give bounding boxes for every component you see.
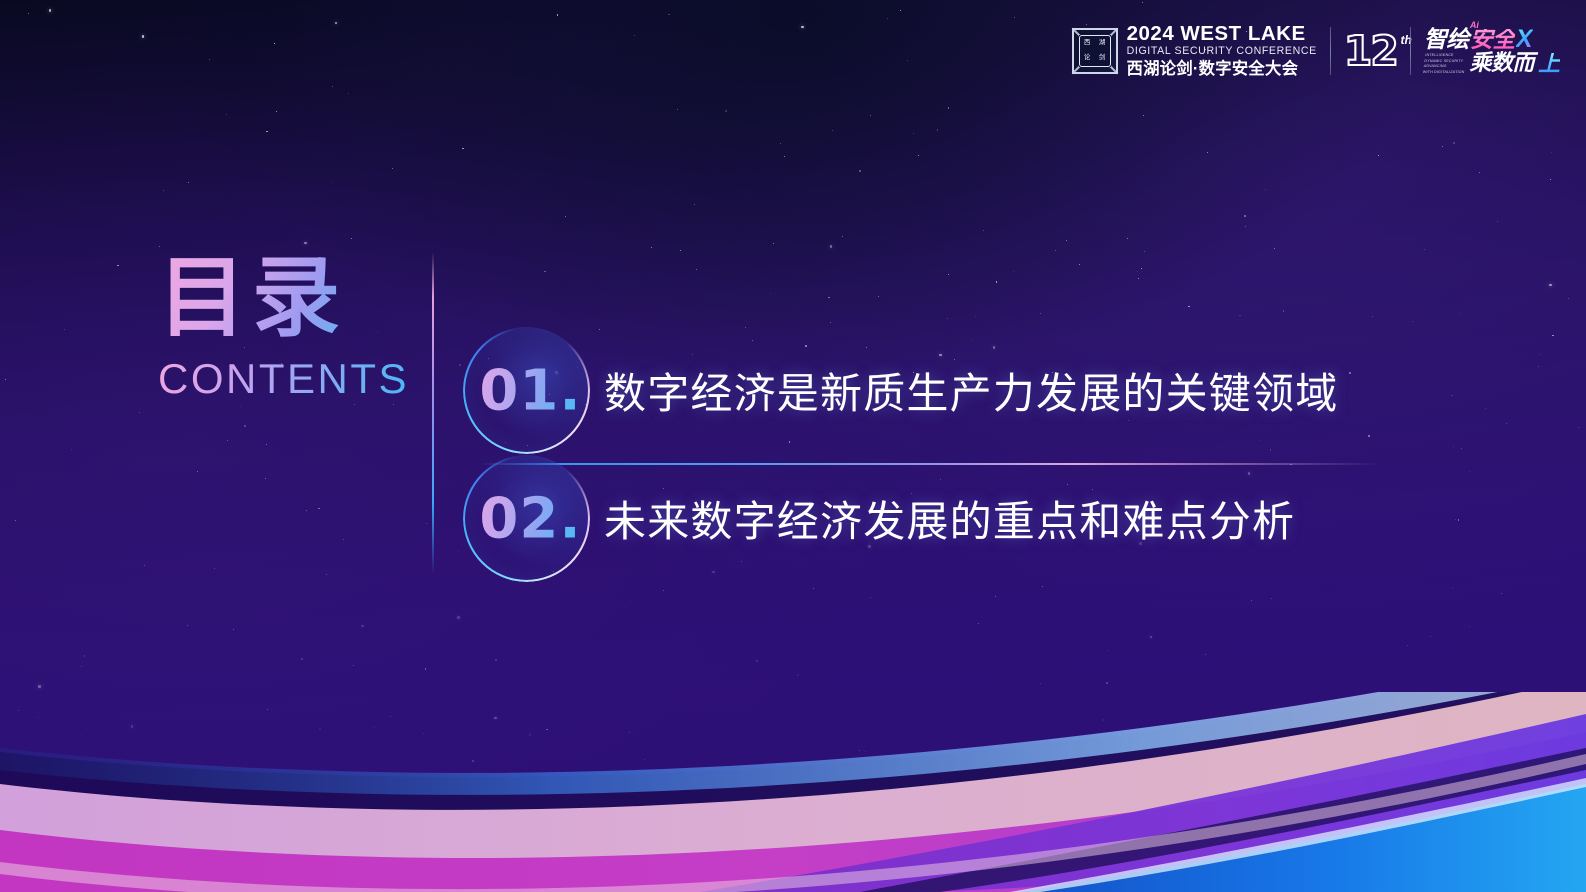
page-title: 目录 CONTENTS bbox=[158, 255, 409, 403]
star-dot bbox=[197, 471, 198, 472]
star-dot bbox=[214, 568, 215, 569]
star-dot bbox=[828, 297, 830, 299]
star-dot bbox=[830, 245, 833, 248]
star-dot bbox=[244, 425, 246, 427]
star-dot bbox=[265, 478, 266, 479]
theme-text-c: 乘数而 bbox=[1469, 53, 1534, 75]
star-dot bbox=[913, 133, 914, 134]
theme-english-text: INTELLIGENCE DYNAMIC SECURITY ADVANCING … bbox=[1422, 53, 1467, 75]
star-dot bbox=[937, 129, 939, 131]
star-dot bbox=[859, 170, 861, 172]
star-dot bbox=[361, 625, 364, 628]
star-dot bbox=[1239, 315, 1241, 317]
star-dot bbox=[38, 685, 41, 688]
ai-mark-icon: Ai bbox=[1470, 21, 1479, 30]
star-dot bbox=[770, 293, 771, 294]
star-dot bbox=[1127, 238, 1128, 239]
star-dot bbox=[348, 93, 349, 94]
star-dot bbox=[144, 565, 145, 566]
theme-x-mark: X bbox=[1516, 27, 1533, 52]
conference-name-zh: 西湖论剑·数字安全大会 bbox=[1127, 60, 1317, 80]
conference-name-en: 2024 WEST LAKE bbox=[1127, 23, 1317, 45]
star-dot bbox=[1349, 372, 1351, 374]
item-number: 02. bbox=[463, 486, 590, 551]
star-dot bbox=[462, 148, 464, 150]
logo-divider-1 bbox=[1330, 27, 1331, 75]
star-dot bbox=[1452, 588, 1453, 589]
star-dot bbox=[870, 115, 871, 116]
star-dot bbox=[266, 444, 267, 445]
star-dot bbox=[878, 296, 879, 297]
star-dot bbox=[813, 588, 814, 589]
star-dot bbox=[947, 318, 948, 319]
star-dot bbox=[797, 675, 798, 676]
item-number: 01. bbox=[463, 358, 590, 423]
star-dot bbox=[1251, 600, 1252, 601]
star-dot bbox=[392, 168, 393, 169]
star-dot bbox=[318, 508, 320, 510]
star-dot bbox=[784, 156, 785, 157]
star-dot bbox=[948, 274, 949, 275]
theme-text-a: 智绘 bbox=[1424, 29, 1469, 52]
theme-line-2: INTELLIGENCE DYNAMIC SECURITY ADVANCING … bbox=[1424, 53, 1560, 75]
star-dot bbox=[1424, 249, 1425, 250]
star-dot bbox=[725, 110, 727, 112]
star-dot bbox=[1451, 395, 1453, 397]
star-dot bbox=[663, 590, 664, 591]
star-dot bbox=[1274, 248, 1275, 249]
star-dot bbox=[426, 523, 427, 524]
star-dot bbox=[565, 216, 566, 217]
star-dot bbox=[1549, 284, 1552, 287]
star-dot bbox=[1188, 306, 1190, 308]
star-dot bbox=[71, 449, 72, 450]
star-dot bbox=[1469, 626, 1470, 627]
star-dot bbox=[1138, 278, 1139, 279]
star-dot bbox=[680, 250, 681, 251]
star-dot bbox=[1040, 683, 1041, 684]
star-dot bbox=[1013, 271, 1014, 272]
edition-number: 12 bbox=[1344, 27, 1397, 75]
star-dot bbox=[1568, 298, 1569, 299]
star-dot bbox=[117, 265, 119, 267]
star-dot bbox=[1540, 354, 1541, 355]
star-dot bbox=[830, 322, 831, 323]
theme-text-b: 安全 bbox=[1470, 29, 1515, 52]
star-dot bbox=[634, 35, 635, 36]
star-dot bbox=[1040, 313, 1041, 314]
star-dot bbox=[1207, 152, 1208, 153]
star-dot bbox=[1244, 215, 1246, 217]
star-dot bbox=[1407, 645, 1408, 646]
star-dot bbox=[335, 22, 338, 25]
star-dot bbox=[1079, 264, 1080, 265]
star-dot bbox=[1485, 408, 1486, 409]
seal-char-0: 西 bbox=[1084, 40, 1091, 47]
star-dot bbox=[276, 111, 277, 112]
bottom-wave-decoration bbox=[0, 692, 1586, 892]
star-dot bbox=[351, 238, 352, 239]
star-dot bbox=[1550, 179, 1551, 180]
star-dot bbox=[1368, 435, 1370, 437]
contents-item-02[interactable]: 02. 未来数字经济发展的重点和难点分析 bbox=[463, 455, 1295, 582]
star-dot bbox=[557, 14, 559, 16]
star-dot bbox=[996, 281, 998, 283]
star-dot bbox=[240, 406, 241, 407]
star-dot bbox=[668, 14, 670, 16]
star-dot bbox=[887, 18, 888, 19]
star-dot bbox=[1461, 448, 1462, 449]
star-dot bbox=[1271, 598, 1272, 599]
star-dot bbox=[354, 404, 355, 405]
star-dot bbox=[393, 404, 394, 405]
star-dot bbox=[142, 35, 145, 38]
conference-subtitle-en: DIGITAL SECURITY CONFERENCE bbox=[1127, 44, 1317, 58]
star-dot bbox=[918, 155, 919, 156]
item-number-circle: 02. bbox=[463, 455, 590, 582]
contents-item-01[interactable]: 01. 数字经济是新质生产力发展的关键领域 bbox=[463, 327, 1338, 454]
theme-line-1: 智绘 安全 X Ai bbox=[1424, 27, 1560, 52]
star-dot bbox=[332, 86, 333, 87]
star-dot bbox=[694, 204, 695, 205]
star-dot bbox=[696, 269, 697, 270]
star-dot bbox=[1552, 335, 1554, 337]
star-dot bbox=[1066, 240, 1067, 241]
star-dot bbox=[5, 379, 6, 380]
star-dot bbox=[1143, 115, 1145, 117]
seal-char-1: 湖 bbox=[1099, 40, 1106, 47]
star-dot bbox=[209, 59, 210, 60]
star-dot bbox=[832, 130, 833, 131]
seal-char-2: 论 bbox=[1084, 55, 1091, 62]
seal-inner-characters: 西 湖 论 剑 bbox=[1079, 35, 1111, 67]
star-dot bbox=[457, 616, 460, 619]
star-dot bbox=[907, 60, 908, 61]
star-dot bbox=[870, 597, 871, 598]
edition-badge: 12 th bbox=[1344, 31, 1397, 72]
star-dot bbox=[1372, 316, 1373, 317]
star-dot bbox=[1479, 172, 1480, 173]
star-dot bbox=[233, 629, 235, 631]
star-dot bbox=[798, 674, 799, 675]
star-dot bbox=[1055, 250, 1056, 251]
star-dot bbox=[226, 114, 227, 115]
star-dot bbox=[227, 440, 228, 441]
west-lake-seal-icon: 西 湖 论 剑 bbox=[1072, 28, 1118, 74]
star-dot bbox=[188, 182, 189, 183]
star-dot bbox=[353, 665, 354, 666]
star-dot bbox=[1469, 471, 1470, 472]
star-dot bbox=[983, 230, 984, 231]
theme-text-d: 上 bbox=[1538, 53, 1560, 75]
star-dot bbox=[343, 539, 344, 540]
star-dot bbox=[625, 606, 626, 607]
star-dot bbox=[266, 131, 268, 133]
page-title-en: CONTENTS bbox=[158, 355, 409, 403]
star-dot bbox=[1378, 155, 1379, 156]
star-dot bbox=[1245, 226, 1246, 227]
star-dot bbox=[495, 659, 497, 661]
star-dot bbox=[1578, 427, 1579, 428]
logo-divider-2 bbox=[1410, 27, 1411, 75]
star-dot bbox=[1205, 654, 1206, 655]
star-dot bbox=[139, 412, 140, 413]
star-dot bbox=[1459, 313, 1460, 314]
star-dot bbox=[458, 551, 459, 552]
star-dot bbox=[1453, 142, 1455, 144]
star-dot bbox=[301, 658, 303, 660]
star-dot bbox=[1042, 586, 1043, 587]
star-dot bbox=[163, 190, 164, 191]
star-dot bbox=[780, 143, 781, 144]
star-dot bbox=[81, 666, 82, 667]
star-dot bbox=[773, 243, 774, 244]
star-dot bbox=[15, 520, 16, 521]
star-dot bbox=[306, 510, 307, 511]
conference-logo-bar: 西 湖 论 剑 2024 WEST LAKE DIGITAL SECURITY … bbox=[1072, 20, 1560, 82]
star-dot bbox=[1108, 650, 1109, 651]
star-dot bbox=[1458, 519, 1460, 521]
item-label: 未来数字经济发展的重点和难点分析 bbox=[604, 488, 1295, 549]
star-dot bbox=[459, 364, 461, 366]
star-dot bbox=[1551, 152, 1552, 153]
star-dot bbox=[1430, 636, 1431, 637]
page-title-zh: 目录 bbox=[158, 255, 409, 341]
star-dot bbox=[64, 329, 65, 330]
seal-char-3: 剑 bbox=[1099, 55, 1106, 62]
star-dot bbox=[1412, 321, 1413, 322]
star-dot bbox=[1501, 593, 1502, 594]
star-dot bbox=[756, 660, 758, 662]
star-dot bbox=[1455, 519, 1456, 520]
star-dot bbox=[425, 668, 427, 670]
star-dot bbox=[948, 107, 950, 109]
star-dot bbox=[304, 242, 307, 245]
star-dot bbox=[978, 623, 979, 624]
star-dot bbox=[1014, 17, 1015, 18]
star-dot bbox=[900, 10, 901, 11]
star-dot bbox=[1150, 636, 1153, 639]
presentation-slide: 西 湖 论 剑 2024 WEST LAKE DIGITAL SECURITY … bbox=[0, 0, 1586, 892]
star-dot bbox=[84, 655, 86, 657]
wave-svg bbox=[0, 692, 1586, 892]
star-dot bbox=[1538, 366, 1539, 367]
star-dot bbox=[677, 109, 678, 110]
star-dot bbox=[651, 247, 652, 248]
star-dot bbox=[842, 236, 843, 237]
star-dot bbox=[1497, 221, 1498, 222]
star-dot bbox=[326, 574, 327, 575]
item-label: 数字经济是新质生产力发展的关键领域 bbox=[604, 360, 1338, 421]
star-dot bbox=[1137, 271, 1138, 272]
star-dot bbox=[1506, 423, 1507, 424]
star-dot bbox=[1144, 251, 1145, 252]
star-dot bbox=[801, 26, 804, 29]
star-dot bbox=[28, 13, 29, 14]
star-dot bbox=[995, 596, 996, 597]
star-dot bbox=[1442, 146, 1443, 147]
star-dot bbox=[1142, 2, 1143, 3]
theme-logo: 智绘 安全 X Ai INTELLIGENCE DYNAMIC SECURITY… bbox=[1424, 27, 1560, 75]
star-dot bbox=[274, 43, 275, 44]
conference-name-block: 2024 WEST LAKE DIGITAL SECURITY CONFEREN… bbox=[1127, 23, 1317, 79]
star-dot bbox=[975, 316, 976, 317]
star-dot bbox=[331, 182, 332, 183]
star-dot bbox=[544, 271, 546, 273]
star-dot bbox=[187, 625, 188, 626]
star-dot bbox=[1141, 268, 1142, 269]
star-dot bbox=[1453, 446, 1454, 447]
item-number-circle: 01. bbox=[463, 327, 590, 454]
star-dot bbox=[49, 9, 52, 12]
star-dot bbox=[1283, 310, 1285, 312]
star-dot bbox=[1106, 682, 1108, 684]
star-dot bbox=[1265, 189, 1266, 190]
vertical-divider bbox=[432, 252, 434, 574]
